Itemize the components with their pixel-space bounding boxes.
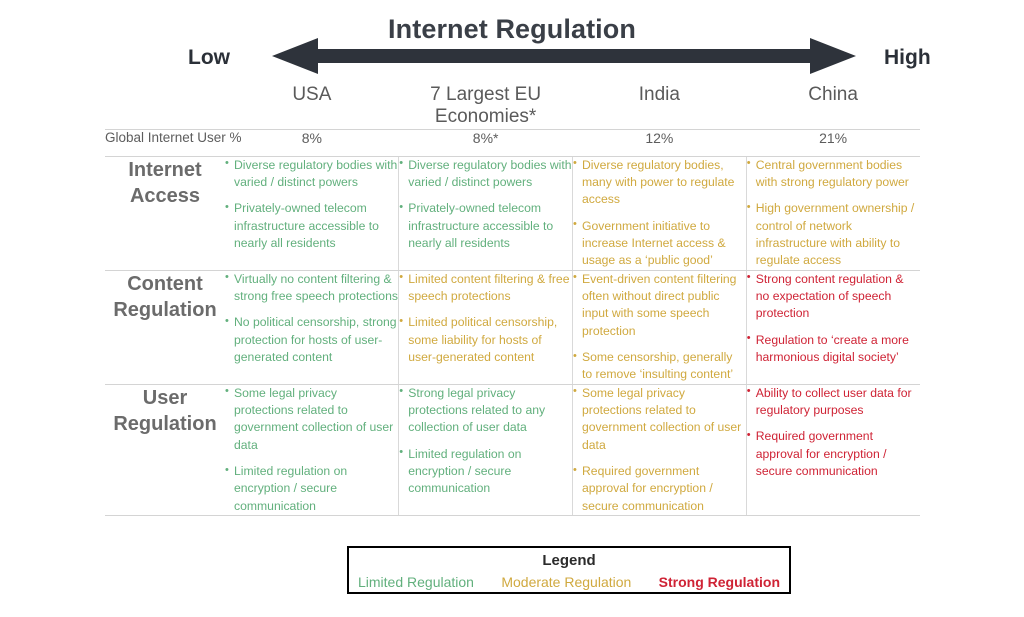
- stat-row-label: Global Internet User %: [105, 129, 225, 156]
- bullet-item: High government ownership / control of n…: [747, 200, 920, 269]
- cell-internet-access-eu: Diverse regulatory bodies with varied / …: [399, 156, 573, 270]
- column-header-eu: 7 Largest EUEconomies*: [399, 84, 573, 129]
- global-internet-user-row: Global Internet User % 8% 8%* 12% 21%: [105, 129, 920, 156]
- legend-items: Limited Regulation Moderate Regulation S…: [349, 570, 789, 590]
- bullet-item: Some censorship, generally to remove ‘in…: [573, 349, 746, 384]
- bullet-list: Diverse regulatory bodies with varied / …: [399, 157, 572, 253]
- stat-value-china: 21%: [746, 129, 920, 156]
- title-band: Internet Regulation Low High: [0, 0, 1024, 82]
- bullet-list: Strong legal privacy protections related…: [399, 385, 572, 498]
- legend-item-limited: Limited Regulation: [358, 574, 474, 590]
- cell-user-regulation-eu: Strong legal privacy protections related…: [399, 384, 573, 515]
- bullet-item: Some legal privacy protections related t…: [225, 385, 398, 454]
- cell-internet-access-usa: Diverse regulatory bodies with varied / …: [225, 156, 399, 270]
- bullet-item: Virtually no content filtering & strong …: [225, 271, 398, 306]
- cell-user-regulation-usa: Some legal privacy protections related t…: [225, 384, 399, 515]
- axis-label-high: High: [884, 46, 931, 70]
- row-label-user-regulation: UserRegulation: [105, 384, 225, 515]
- matrix-row: UserRegulation Some legal privacy protec…: [105, 384, 920, 515]
- cell-content-regulation-eu: Limited content filtering & free speech …: [399, 270, 573, 384]
- cell-content-regulation-china: Strong content regulation & no expectati…: [746, 270, 920, 384]
- bullet-item: Government initiative to increase Intern…: [573, 218, 746, 270]
- double-arrow-icon: [272, 38, 856, 74]
- bullet-item: Limited political censorship, some liabi…: [399, 314, 572, 366]
- regulation-matrix: USA 7 Largest EUEconomies* India China G…: [105, 84, 920, 516]
- column-header-china: China: [746, 84, 920, 129]
- bullet-item: Strong content regulation & no expectati…: [747, 271, 920, 323]
- bullet-list: Virtually no content filtering & strong …: [225, 271, 398, 367]
- bullet-item: Diverse regulatory bodies with varied / …: [399, 157, 572, 192]
- bullet-list: Diverse regulatory bodies, many with pow…: [573, 157, 746, 270]
- bullet-list: Limited content filtering & free speech …: [399, 271, 572, 367]
- cell-internet-access-china: Central government bodies with strong re…: [746, 156, 920, 270]
- bullet-list: Ability to collect user data for regulat…: [747, 385, 920, 481]
- bullet-item: Privately-owned telecom infrastructure a…: [399, 200, 572, 252]
- row-label-internet-access: InternetAccess: [105, 156, 225, 270]
- matrix-table: USA 7 Largest EUEconomies* India China G…: [105, 84, 920, 516]
- bullet-item: Ability to collect user data for regulat…: [747, 385, 920, 420]
- matrix-row: ContentRegulation Virtually no content f…: [105, 270, 920, 384]
- bullet-list: Some legal privacy protections related t…: [573, 385, 746, 515]
- corner-cell: [105, 84, 225, 129]
- bullet-list: Central government bodies with strong re…: [747, 157, 920, 270]
- bullet-item: Diverse regulatory bodies, many with pow…: [573, 157, 746, 209]
- bullet-item: Privately-owned telecom infrastructure a…: [225, 200, 398, 252]
- bullet-list: Strong content regulation & no expectati…: [747, 271, 920, 367]
- cell-internet-access-india: Diverse regulatory bodies, many with pow…: [573, 156, 747, 270]
- bullet-item: Central government bodies with strong re…: [747, 157, 920, 192]
- bullet-item: Limited regulation on encryption / secur…: [225, 463, 398, 515]
- bullet-item: Limited regulation on encryption / secur…: [399, 446, 572, 498]
- bullet-item: Limited content filtering & free speech …: [399, 271, 572, 306]
- matrix-header: USA 7 Largest EUEconomies* India China: [105, 84, 920, 129]
- stat-value-usa: 8%: [225, 129, 399, 156]
- bullet-list: Event-driven content filtering often wit…: [573, 271, 746, 384]
- bullet-list: Some legal privacy protections related t…: [225, 385, 398, 515]
- cell-content-regulation-usa: Virtually no content filtering & strong …: [225, 270, 399, 384]
- matrix-body: Global Internet User % 8% 8%* 12% 21% In…: [105, 129, 920, 515]
- bullet-item: No political censorship, strong protecti…: [225, 314, 398, 366]
- matrix-row: InternetAccess Diverse regulatory bodies…: [105, 156, 920, 270]
- cell-user-regulation-india: Some legal privacy protections related t…: [573, 384, 747, 515]
- stat-value-eu: 8%*: [399, 129, 573, 156]
- bullet-item: Required government approval for encrypt…: [747, 428, 920, 480]
- legend-box: Legend Limited Regulation Moderate Regul…: [347, 546, 791, 594]
- bullet-list: Diverse regulatory bodies with varied / …: [225, 157, 398, 253]
- axis-label-low: Low: [188, 46, 230, 70]
- row-label-content-regulation: ContentRegulation: [105, 270, 225, 384]
- stat-value-india: 12%: [573, 129, 747, 156]
- cell-user-regulation-china: Ability to collect user data for regulat…: [746, 384, 920, 515]
- column-header-india: India: [573, 84, 747, 129]
- bullet-item: Some legal privacy protections related t…: [573, 385, 746, 454]
- legend-item-strong: Strong Regulation: [659, 574, 780, 590]
- bullet-item: Strong legal privacy protections related…: [399, 385, 572, 437]
- bullet-item: Regulation to ‘create a more harmonious …: [747, 332, 920, 367]
- cell-content-regulation-india: Event-driven content filtering often wit…: [573, 270, 747, 384]
- legend-title: Legend: [349, 553, 789, 570]
- column-header-row: USA 7 Largest EUEconomies* India China: [105, 84, 920, 129]
- bullet-item: Diverse regulatory bodies with varied / …: [225, 157, 398, 192]
- bullet-item: Event-driven content filtering often wit…: [573, 271, 746, 340]
- bullet-item: Required government approval for encrypt…: [573, 463, 746, 515]
- column-header-usa: USA: [225, 84, 399, 129]
- legend-item-moderate: Moderate Regulation: [501, 574, 631, 590]
